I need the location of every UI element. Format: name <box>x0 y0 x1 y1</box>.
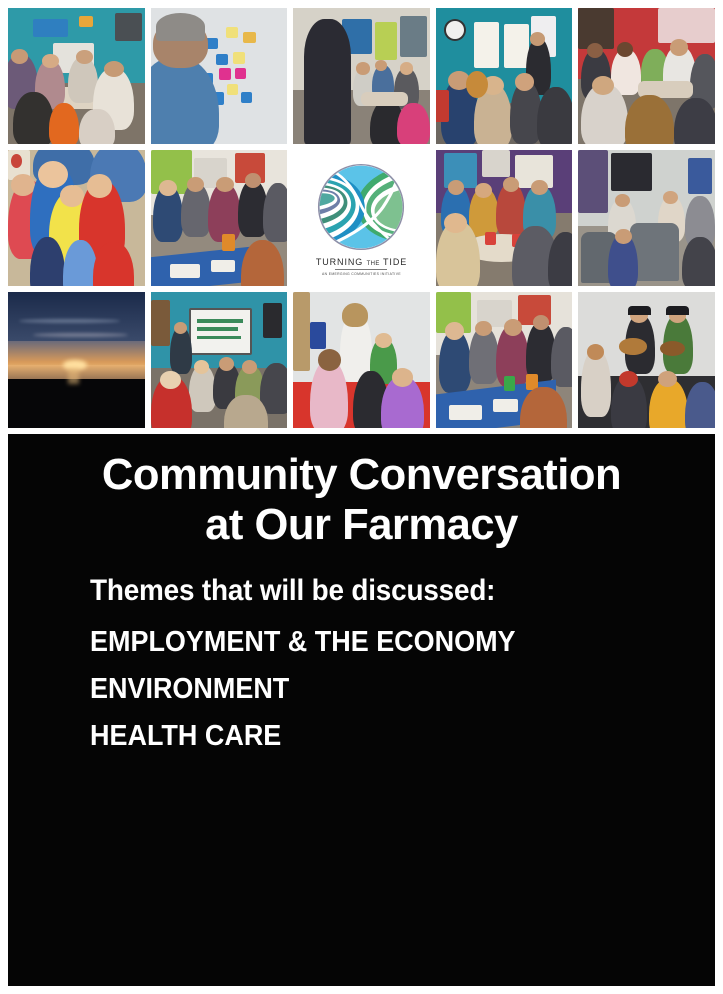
photo-collage: TURNING THE TIDE AN EMERGING COMMUNITIES… <box>8 8 715 428</box>
themes-heading: Themes that will be discussed: <box>90 574 495 608</box>
themes-list: EMPLOYMENT & THE ECONOMY ENVIRONMENT HEA… <box>90 619 548 760</box>
photo-scene <box>578 8 715 144</box>
collage-photo-r3c4 <box>436 292 573 428</box>
photo-scene <box>151 292 288 428</box>
theme-item-employment: EMPLOYMENT & THE ECONOMY <box>90 619 516 666</box>
collage-photo-r2c2 <box>151 150 288 286</box>
collage-photo-r1c2 <box>151 8 288 144</box>
theme-item-environment: ENVIRONMENT <box>90 666 516 713</box>
photo-scene <box>436 150 573 286</box>
collage-photo-r2c1 <box>8 150 145 286</box>
photo-scene <box>8 8 145 144</box>
logo-subtitle: AN EMERGING COMMUNITIES INITIATIVE <box>322 271 401 275</box>
collage-photo-r3c1 <box>8 292 145 428</box>
collage-photo-r1c3 <box>293 8 430 144</box>
photo-scene <box>578 292 715 428</box>
wave-circle-icon <box>315 161 407 253</box>
collage-logo-cell: TURNING THE TIDE AN EMERGING COMMUNITIES… <box>293 150 430 286</box>
turning-the-tide-logo: TURNING THE TIDE AN EMERGING COMMUNITIES… <box>293 150 430 286</box>
photo-scene <box>293 8 430 144</box>
event-poster: TURNING THE TIDE AN EMERGING COMMUNITIES… <box>0 0 723 994</box>
collage-photo-r3c3 <box>293 292 430 428</box>
page-title: Community Conversation at Our Farmacy <box>12 450 712 550</box>
theme-item-health-care: HEALTH CARE <box>90 713 516 760</box>
photo-scene <box>151 150 288 286</box>
poster-text-panel: Community Conversation at Our Farmacy Th… <box>8 434 715 986</box>
photo-scene <box>578 150 715 286</box>
logo-word-turning: TURNING <box>316 257 363 267</box>
photo-scene <box>151 8 288 144</box>
collage-photo-r1c5 <box>578 8 715 144</box>
logo-divider <box>335 269 387 270</box>
photo-scene <box>436 8 573 144</box>
title-line-2: at Our Farmacy <box>12 500 712 550</box>
photo-scene <box>293 292 430 428</box>
collage-photo-r2c5 <box>578 150 715 286</box>
photo-scene <box>8 150 145 286</box>
logo-word-tide: TIDE <box>383 257 407 267</box>
logo-wordmark: TURNING THE TIDE <box>316 257 407 267</box>
collage-photo-r2c4 <box>436 150 573 286</box>
photo-scene <box>8 292 145 428</box>
collage-photo-r1c4 <box>436 8 573 144</box>
photo-scene <box>436 292 573 428</box>
logo-word-the: THE <box>367 261 380 267</box>
collage-photo-r3c5 <box>578 292 715 428</box>
collage-photo-r1c1 <box>8 8 145 144</box>
title-line-1: Community Conversation <box>12 450 712 500</box>
collage-photo-r3c2 <box>151 292 288 428</box>
